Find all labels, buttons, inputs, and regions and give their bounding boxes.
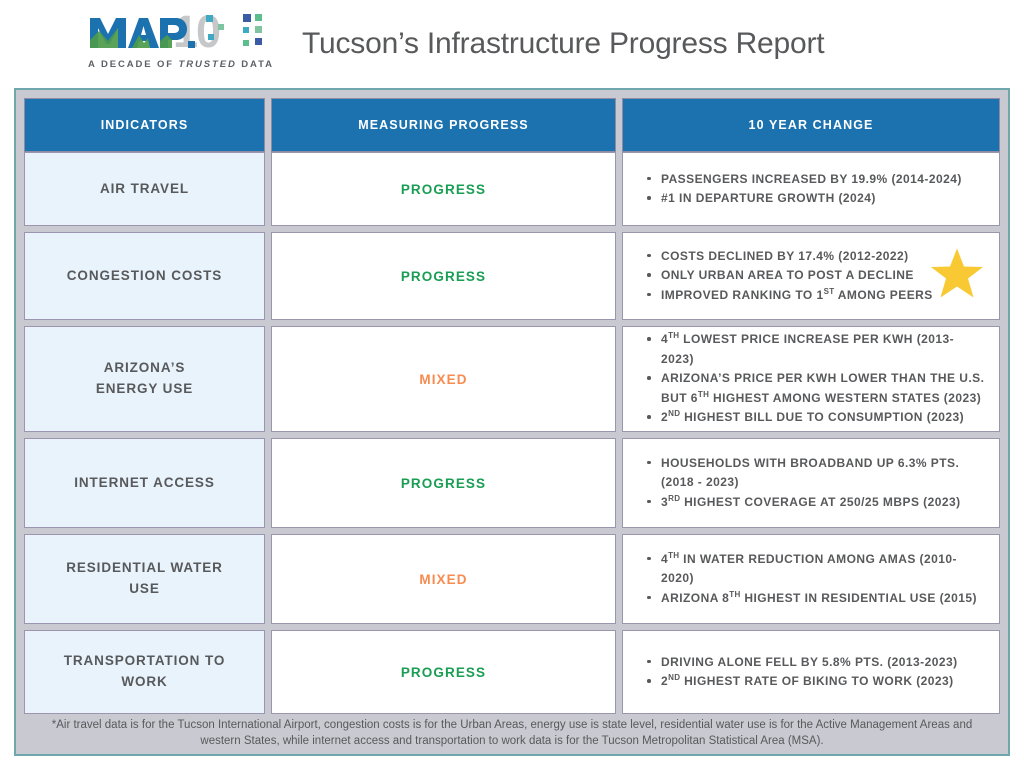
change-cell: HOUSEHOLDS WITH BROADBAND UP 6.3% PTS. (… bbox=[622, 438, 1000, 528]
logo-svg: 10 bbox=[88, 10, 270, 56]
column-header-measuring-progress: MEASURING PROGRESS bbox=[271, 98, 616, 152]
table-row: INTERNET ACCESSPROGRESSHOUSEHOLDS WITH B… bbox=[24, 438, 1000, 528]
column-header-10-year-change-label: 10 YEAR CHANGE bbox=[749, 118, 874, 132]
ordinal-suffix: TH bbox=[668, 551, 679, 560]
table-row: CONGESTION COSTSPROGRESSCOSTS DECLINED B… bbox=[24, 232, 1000, 320]
logo-graphic: 10 bbox=[88, 10, 270, 56]
indicator-label: INTERNET ACCESS bbox=[74, 473, 215, 494]
status-badge: PROGRESS bbox=[401, 665, 486, 680]
ordinal-suffix: ST bbox=[824, 287, 835, 296]
change-item: 2ND HIGHEST RATE OF BIKING TO WORK (2023… bbox=[645, 672, 985, 691]
ordinal-suffix: ND bbox=[668, 673, 680, 682]
change-list: DRIVING ALONE FELL BY 5.8% PTS. (2013-20… bbox=[645, 653, 985, 692]
change-list: 4TH IN WATER REDUCTION AMONG AMAS (2010-… bbox=[645, 550, 985, 608]
table-row: RESIDENTIAL WATERUSEMIXED4TH IN WATER RE… bbox=[24, 534, 1000, 624]
change-item: 4TH LOWEST PRICE INCREASE PER KWH (2013-… bbox=[645, 330, 985, 369]
change-cell: 4TH IN WATER REDUCTION AMONG AMAS (2010-… bbox=[622, 534, 1000, 624]
ordinal-suffix: TH bbox=[729, 590, 740, 599]
change-item: 2ND HIGHEST BILL DUE TO CONSUMPTION (202… bbox=[645, 408, 985, 427]
change-item: DRIVING ALONE FELL BY 5.8% PTS. (2013-20… bbox=[645, 653, 985, 672]
status-cell: PROGRESS bbox=[271, 232, 616, 320]
star-icon bbox=[929, 247, 985, 306]
table-row: AIR TRAVELPROGRESSPASSENGERS INCREASED B… bbox=[24, 152, 1000, 226]
status-cell: PROGRESS bbox=[271, 152, 616, 226]
ordinal-suffix: TH bbox=[668, 331, 679, 340]
status-badge: PROGRESS bbox=[401, 476, 486, 491]
change-cell: PASSENGERS INCREASED BY 19.9% (2014-2024… bbox=[622, 152, 1000, 226]
change-item: PASSENGERS INCREASED BY 19.9% (2014-2024… bbox=[645, 170, 985, 189]
logo-tagline-prefix: A DECADE OF bbox=[88, 59, 179, 70]
ordinal-suffix: TH bbox=[698, 390, 709, 399]
change-cell: 4TH LOWEST PRICE INCREASE PER KWH (2013-… bbox=[622, 326, 1000, 432]
indicator-label: AIR TRAVEL bbox=[100, 179, 189, 200]
change-list: HOUSEHOLDS WITH BROADBAND UP 6.3% PTS. (… bbox=[645, 454, 985, 512]
logo-tagline-suffix: DATA bbox=[237, 59, 274, 70]
status-badge: PROGRESS bbox=[401, 182, 486, 197]
table-grid: INDICATORS MEASURING PROGRESS 10 YEAR CH… bbox=[24, 98, 1000, 754]
indicator-cell: RESIDENTIAL WATERUSE bbox=[24, 534, 265, 624]
status-cell: MIXED bbox=[271, 534, 616, 624]
page-header: 10 bbox=[0, 0, 1024, 88]
status-badge: PROGRESS bbox=[401, 269, 486, 284]
logo-tagline-italic: TRUSTED bbox=[179, 59, 237, 70]
table-row: ARIZONA’SENERGY USEMIXED4TH LOWEST PRICE… bbox=[24, 326, 1000, 432]
column-header-indicators: INDICATORS bbox=[24, 98, 265, 152]
status-cell: MIXED bbox=[271, 326, 616, 432]
change-item: HOUSEHOLDS WITH BROADBAND UP 6.3% PTS. (… bbox=[645, 454, 985, 493]
indicator-label: ARIZONA’SENERGY USE bbox=[96, 358, 193, 400]
table-body: AIR TRAVELPROGRESSPASSENGERS INCREASED B… bbox=[24, 152, 1000, 714]
page-title: Tucson’s Infrastructure Progress Report bbox=[302, 27, 824, 61]
change-item: #1 IN DEPARTURE GROWTH (2024) bbox=[645, 189, 985, 208]
report-page: 10 bbox=[0, 0, 1024, 768]
indicator-cell: ARIZONA’SENERGY USE bbox=[24, 326, 265, 432]
status-cell: PROGRESS bbox=[271, 630, 616, 714]
status-cell: PROGRESS bbox=[271, 438, 616, 528]
change-item: 3RD HIGHEST COVERAGE AT 250/25 MBPS (202… bbox=[645, 493, 985, 512]
indicator-label: TRANSPORTATION TOWORK bbox=[64, 651, 226, 693]
change-item: 4TH IN WATER REDUCTION AMONG AMAS (2010-… bbox=[645, 550, 985, 589]
table-footnote: *Air travel data is for the Tucson Inter… bbox=[16, 717, 1008, 750]
change-item: ARIZONA’S PRICE PER KWH LOWER THAN THE U… bbox=[645, 369, 985, 408]
table-row: TRANSPORTATION TOWORKPROGRESSDRIVING ALO… bbox=[24, 630, 1000, 714]
indicator-cell: TRANSPORTATION TOWORK bbox=[24, 630, 265, 714]
indicator-cell: AIR TRAVEL bbox=[24, 152, 265, 226]
change-list: PASSENGERS INCREASED BY 19.9% (2014-2024… bbox=[645, 170, 985, 209]
indicator-cell: INTERNET ACCESS bbox=[24, 438, 265, 528]
ordinal-suffix: ND bbox=[668, 409, 680, 418]
column-header-10-year-change: 10 YEAR CHANGE bbox=[622, 98, 1000, 152]
status-badge: MIXED bbox=[419, 372, 467, 387]
indicator-label: RESIDENTIAL WATERUSE bbox=[66, 558, 223, 600]
map-logo: 10 bbox=[88, 10, 270, 78]
column-header-measuring-progress-label: MEASURING PROGRESS bbox=[358, 118, 529, 132]
change-cell: DRIVING ALONE FELL BY 5.8% PTS. (2013-20… bbox=[622, 630, 1000, 714]
change-item: ARIZONA 8TH HIGHEST IN RESIDENTIAL USE (… bbox=[645, 589, 985, 608]
progress-table: INDICATORS MEASURING PROGRESS 10 YEAR CH… bbox=[14, 88, 1010, 756]
table-header-row: INDICATORS MEASURING PROGRESS 10 YEAR CH… bbox=[24, 98, 1000, 152]
ordinal-suffix: RD bbox=[668, 494, 680, 503]
change-list: 4TH LOWEST PRICE INCREASE PER KWH (2013-… bbox=[645, 330, 985, 427]
status-badge: MIXED bbox=[419, 572, 467, 587]
indicator-cell: CONGESTION COSTS bbox=[24, 232, 265, 320]
indicator-label: CONGESTION COSTS bbox=[67, 266, 222, 287]
logo-tagline: A DECADE OF TRUSTED DATA bbox=[88, 59, 270, 70]
column-header-indicators-label: INDICATORS bbox=[101, 118, 189, 132]
change-cell: COSTS DECLINED BY 17.4% (2012-2022)ONLY … bbox=[622, 232, 1000, 320]
